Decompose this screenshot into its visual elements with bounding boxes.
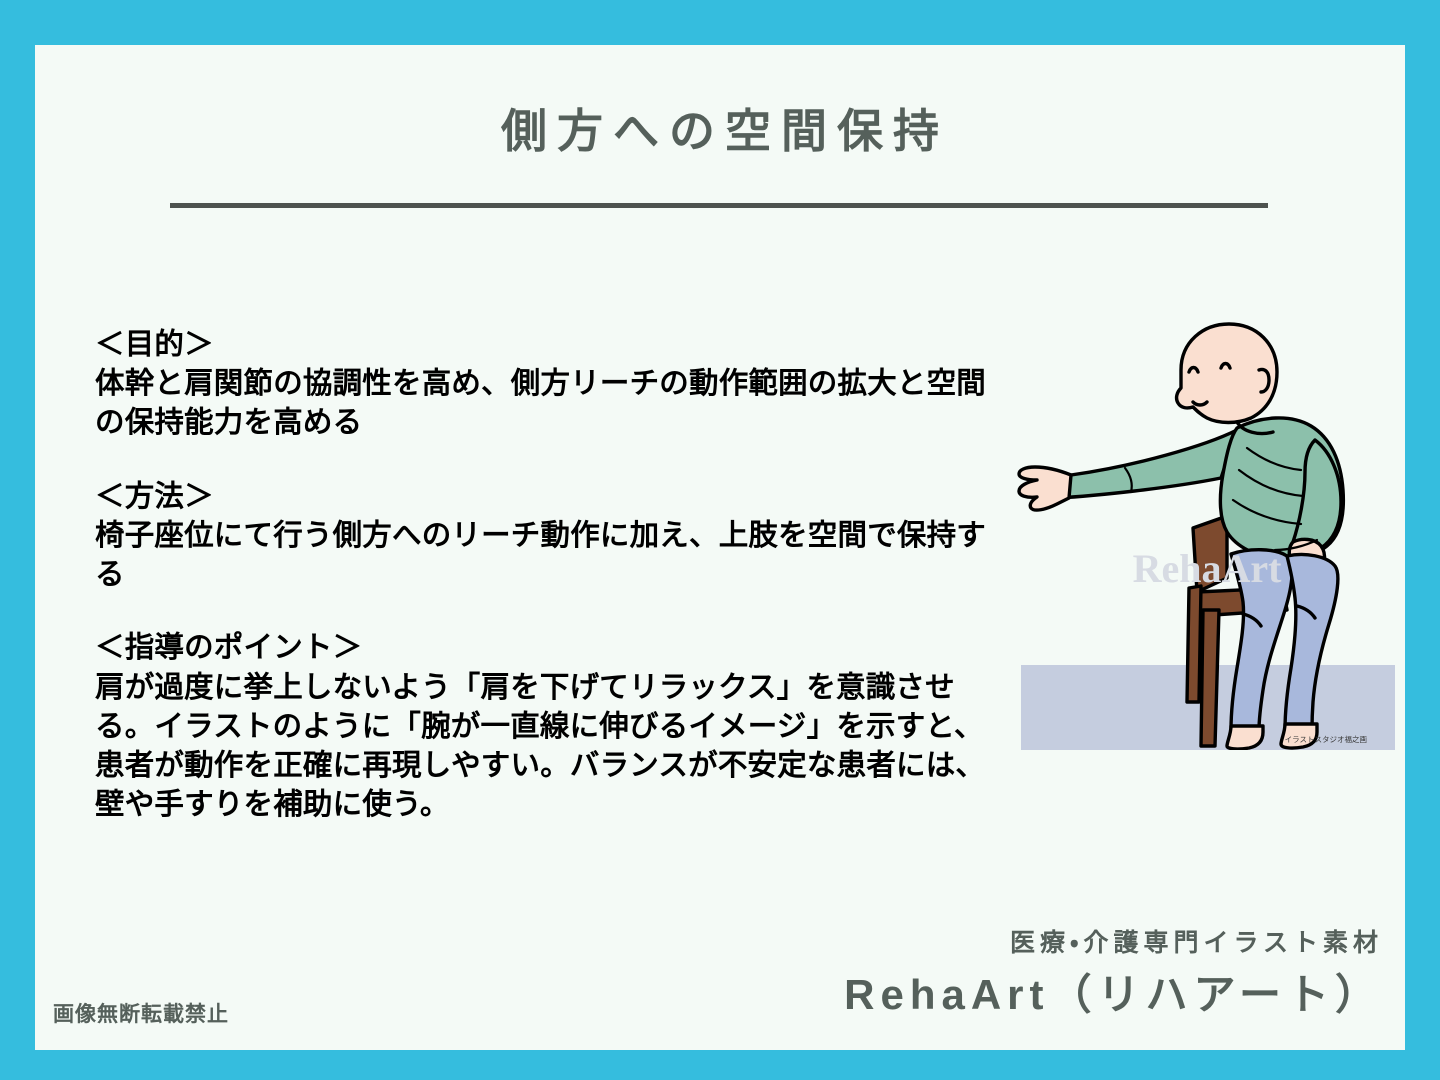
section-purpose: ＜目的＞ 体幹と肩関節の協調性を高め、側方リーチの動作範囲の拡大と空間の保持能力… bbox=[95, 325, 995, 443]
section-method-body: 椅子座位にて行う側方へのリーチ動作に加え、上肢を空間で保持する bbox=[95, 516, 995, 594]
head bbox=[1177, 324, 1277, 423]
section-guidance-points: ＜指導のポイント＞ 肩が過度に挙上しないよう「肩を下げてリラックス」を意識させる… bbox=[95, 628, 995, 824]
section-guidance-points-body: 肩が過度に挙上しないよう「肩を下げてリラックス」を意識させる。イラストのように「… bbox=[95, 668, 995, 825]
reaching-arm bbox=[1045, 430, 1237, 498]
reaching-hand bbox=[1019, 467, 1071, 510]
section-purpose-body: 体幹と肩関節の協調性を高め、側方リーチの動作範囲の拡大と空間の保持能力を高める bbox=[95, 364, 995, 442]
title-divider bbox=[170, 203, 1268, 208]
page-title: 側方への空間保持 bbox=[35, 95, 1405, 161]
slide-panel: 側方への空間保持 ＜目的＞ 体幹と肩関節の協調性を高め、側方リーチの動作範囲の拡… bbox=[35, 45, 1405, 1050]
chair-rear-leg bbox=[1187, 586, 1201, 702]
brand-name: RehaArt（リハアート） bbox=[838, 961, 1383, 1022]
brand-tagline: 医療・介護専門イラスト素材 bbox=[838, 923, 1383, 959]
body-content: ＜目的＞ 体幹と肩関節の協調性を高め、側方リーチの動作範囲の拡大と空間の保持能力… bbox=[95, 325, 995, 825]
foot-near bbox=[1227, 726, 1263, 749]
section-method: ＜方法＞ 椅子座位にて行う側方へのリーチ動作に加え、上肢を空間で保持する bbox=[95, 477, 995, 595]
slide-canvas: 側方への空間保持 ＜目的＞ 体幹と肩関節の協調性を高め、側方リーチの動作範囲の拡… bbox=[0, 0, 1440, 1080]
section-guidance-points-heading: ＜指導のポイント＞ bbox=[95, 628, 995, 667]
chair-front-leg bbox=[1201, 610, 1219, 746]
section-method-heading: ＜方法＞ bbox=[95, 477, 995, 516]
copyright-notice: 画像無断転載禁止 bbox=[53, 998, 229, 1028]
brand-block: 医療・介護専門イラスト素材 RehaArt（リハアート） bbox=[838, 923, 1383, 1022]
illustration-credit: イラストスタジオ福之画 bbox=[1285, 734, 1368, 744]
section-purpose-heading: ＜目的＞ bbox=[95, 325, 995, 364]
exercise-illustration: RehaArt イラストスタジオ福之画 bbox=[975, 310, 1395, 750]
watermark-text: RehaArt bbox=[1133, 546, 1283, 591]
